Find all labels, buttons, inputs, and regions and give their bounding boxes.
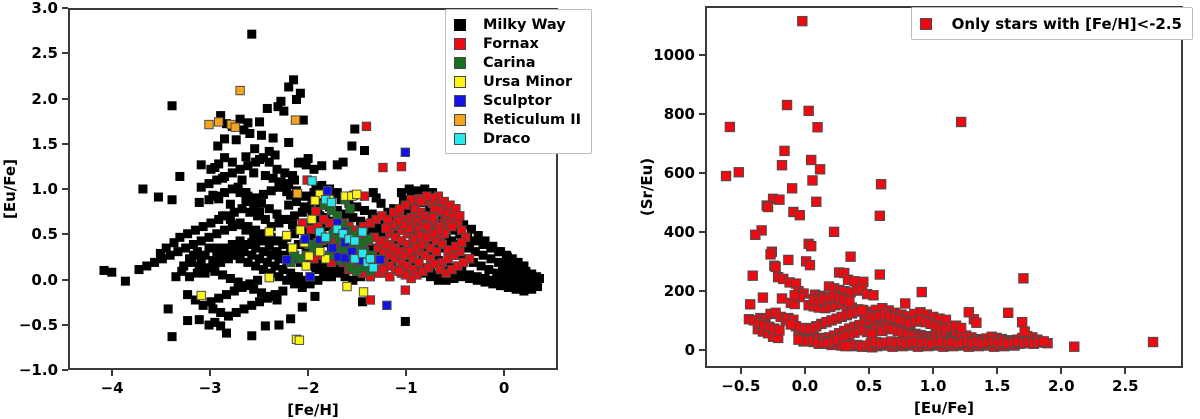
data-point bbox=[259, 153, 267, 161]
data-point bbox=[360, 192, 368, 200]
data-point bbox=[224, 255, 232, 263]
data-point bbox=[271, 290, 279, 298]
scatter-canvas-right bbox=[707, 8, 1181, 366]
data-point bbox=[236, 188, 244, 196]
data-point bbox=[220, 188, 228, 196]
y-tick-mark bbox=[699, 172, 705, 174]
data-point bbox=[234, 221, 242, 229]
y-tick-label: 0.0 bbox=[2, 271, 58, 289]
data-point bbox=[230, 287, 238, 295]
y-tick-mark bbox=[699, 54, 705, 56]
data-point bbox=[244, 240, 252, 248]
legend-item-label: Ursa Minor bbox=[483, 74, 572, 90]
data-point bbox=[1017, 317, 1026, 326]
data-point bbox=[197, 237, 205, 245]
data-point bbox=[232, 136, 240, 144]
data-point bbox=[238, 204, 246, 212]
data-point bbox=[458, 238, 466, 246]
data-point bbox=[238, 283, 246, 291]
data-point bbox=[745, 300, 754, 309]
x-tick-mark bbox=[804, 368, 806, 374]
data-point bbox=[333, 188, 341, 196]
data-point bbox=[197, 183, 205, 191]
data-point bbox=[183, 316, 191, 324]
data-point bbox=[189, 251, 197, 259]
data-point bbox=[734, 168, 743, 177]
x-tick-label: 2.5 bbox=[1112, 377, 1139, 395]
x-tick-label: 0.0 bbox=[792, 377, 819, 395]
data-point bbox=[255, 118, 263, 126]
x-tick-label: 0.5 bbox=[856, 377, 883, 395]
data-point bbox=[298, 276, 306, 284]
data-point bbox=[176, 172, 184, 180]
data-point bbox=[209, 262, 217, 270]
data-point bbox=[251, 158, 259, 166]
x-tick-mark bbox=[405, 370, 407, 376]
data-point bbox=[293, 189, 301, 197]
data-point bbox=[318, 162, 326, 170]
data-point bbox=[311, 196, 319, 204]
data-point bbox=[312, 207, 320, 215]
x-tick-mark bbox=[111, 370, 113, 376]
y-tick-label: 2.0 bbox=[2, 90, 58, 108]
data-point bbox=[215, 160, 223, 168]
data-point bbox=[271, 237, 279, 245]
data-point bbox=[236, 237, 244, 245]
data-point bbox=[875, 211, 884, 220]
data-point bbox=[448, 222, 456, 230]
data-point bbox=[139, 185, 147, 193]
data-point bbox=[164, 305, 172, 313]
data-point bbox=[473, 276, 481, 284]
data-point bbox=[232, 308, 240, 316]
data-point bbox=[401, 317, 409, 325]
data-point bbox=[240, 305, 248, 313]
x-tick-label: 0 bbox=[499, 379, 509, 397]
data-point bbox=[376, 256, 384, 264]
x-tick-mark bbox=[1124, 368, 1126, 374]
data-point bbox=[298, 303, 306, 311]
data-point bbox=[323, 187, 331, 195]
data-point bbox=[168, 332, 176, 340]
data-point bbox=[191, 226, 199, 234]
legend-swatch-icon bbox=[454, 95, 466, 107]
data-point bbox=[279, 240, 287, 248]
data-point bbox=[351, 237, 359, 245]
data-point bbox=[790, 291, 799, 300]
data-point bbox=[328, 244, 336, 252]
data-point bbox=[428, 213, 436, 221]
data-point bbox=[479, 251, 487, 259]
data-point bbox=[308, 215, 316, 223]
data-point bbox=[197, 255, 205, 263]
data-point bbox=[358, 228, 366, 236]
data-point bbox=[846, 252, 855, 261]
data-point bbox=[780, 146, 789, 155]
data-point bbox=[283, 256, 291, 264]
plot-area-right bbox=[705, 6, 1183, 368]
data-point bbox=[284, 138, 292, 146]
data-point bbox=[798, 16, 807, 25]
data-point bbox=[901, 299, 910, 308]
y-tick-mark bbox=[62, 98, 68, 100]
data-point bbox=[228, 158, 236, 166]
legend-item[interactable]: Only stars with [Fe/H]<-2.5 bbox=[920, 13, 1182, 34]
data-point bbox=[383, 301, 391, 309]
data-point bbox=[296, 226, 304, 234]
data-point bbox=[284, 83, 292, 91]
data-point bbox=[271, 151, 279, 159]
data-point bbox=[185, 273, 193, 281]
data-point bbox=[397, 162, 405, 170]
data-point bbox=[199, 222, 207, 230]
data-point bbox=[135, 265, 143, 273]
data-point bbox=[786, 320, 795, 329]
data-point bbox=[520, 262, 528, 270]
legend-item-label: Draco bbox=[483, 131, 531, 147]
y-tick-mark bbox=[62, 7, 68, 9]
data-point bbox=[215, 118, 223, 126]
data-point bbox=[251, 244, 259, 252]
y-tick-mark bbox=[699, 113, 705, 115]
y-tick-label: −1.0 bbox=[2, 361, 58, 379]
data-point bbox=[302, 262, 310, 270]
y-tick-label: 1000 bbox=[639, 46, 695, 64]
data-point bbox=[481, 278, 489, 286]
figure-two-panel-scatter: −1.0−0.50.00.51.01.52.02.53.0−4−3−2−10 M… bbox=[0, 0, 1200, 416]
data-point bbox=[917, 287, 926, 296]
x-tick-mark bbox=[503, 370, 505, 376]
data-point bbox=[304, 154, 312, 162]
data-point bbox=[1039, 337, 1048, 346]
data-point bbox=[458, 273, 466, 281]
data-point bbox=[248, 332, 256, 340]
legend-item-label: Carina bbox=[483, 55, 536, 71]
data-point bbox=[296, 158, 304, 166]
data-point bbox=[232, 251, 240, 259]
legend-item[interactable]: Ursa Minor bbox=[454, 72, 581, 91]
data-point bbox=[220, 172, 228, 180]
data-point bbox=[520, 287, 528, 295]
legend-item[interactable]: Sculptor bbox=[454, 91, 581, 110]
data-point bbox=[379, 163, 387, 171]
data-point bbox=[444, 246, 452, 254]
legend-swatch-icon bbox=[454, 133, 466, 145]
data-point bbox=[265, 228, 273, 236]
data-point bbox=[248, 30, 256, 38]
data-point bbox=[456, 212, 464, 220]
data-point bbox=[351, 255, 359, 263]
data-point bbox=[154, 193, 162, 201]
data-point bbox=[244, 162, 252, 170]
data-point bbox=[216, 258, 224, 266]
data-point bbox=[244, 192, 252, 200]
data-point bbox=[512, 285, 520, 293]
data-point bbox=[250, 145, 258, 153]
data-point bbox=[226, 274, 234, 282]
data-point bbox=[321, 273, 329, 281]
data-point bbox=[301, 235, 309, 243]
legend-swatch-icon bbox=[454, 76, 466, 88]
data-point bbox=[360, 206, 368, 214]
data-point bbox=[465, 274, 473, 282]
data-point bbox=[343, 282, 351, 290]
data-point bbox=[1070, 342, 1079, 351]
data-point bbox=[267, 187, 275, 195]
data-point bbox=[359, 288, 367, 296]
data-point bbox=[218, 271, 226, 279]
y-tick-mark bbox=[62, 233, 68, 235]
data-point bbox=[228, 240, 236, 248]
data-point bbox=[220, 226, 228, 234]
data-point bbox=[172, 273, 180, 281]
data-point bbox=[222, 329, 230, 337]
data-point bbox=[275, 219, 283, 227]
data-point bbox=[231, 123, 239, 131]
x-tick-mark bbox=[868, 368, 870, 374]
y-tick-label: −0.5 bbox=[2, 316, 58, 334]
legend-swatch-icon bbox=[454, 19, 466, 31]
data-point bbox=[782, 100, 791, 109]
data-point bbox=[496, 281, 504, 289]
x-tick-mark bbox=[1060, 368, 1062, 374]
data-point bbox=[174, 247, 182, 255]
data-point bbox=[253, 212, 261, 220]
data-point bbox=[168, 102, 176, 110]
data-point bbox=[286, 315, 294, 323]
data-point bbox=[829, 227, 838, 236]
data-point bbox=[794, 335, 803, 344]
data-point bbox=[242, 226, 250, 234]
data-point bbox=[251, 194, 259, 202]
data-point bbox=[283, 231, 291, 239]
data-point bbox=[748, 271, 757, 280]
data-point bbox=[183, 230, 191, 238]
data-point bbox=[349, 213, 357, 221]
data-point bbox=[265, 273, 273, 281]
data-point bbox=[366, 255, 374, 263]
legend-swatch-icon bbox=[454, 38, 466, 50]
data-point bbox=[964, 308, 973, 317]
data-point bbox=[209, 305, 217, 313]
x-tick-mark bbox=[307, 370, 309, 376]
x-tick-label: −1 bbox=[395, 379, 418, 397]
data-point bbox=[459, 258, 467, 266]
data-point bbox=[213, 230, 221, 238]
y-tick-label: 0.5 bbox=[2, 225, 58, 243]
data-point bbox=[766, 250, 775, 259]
data-point bbox=[413, 187, 421, 195]
data-point bbox=[246, 280, 254, 288]
data-point bbox=[321, 233, 329, 241]
data-point bbox=[220, 244, 228, 252]
data-point bbox=[207, 165, 215, 173]
y-tick-mark bbox=[62, 324, 68, 326]
data-point bbox=[812, 197, 821, 206]
data-point bbox=[972, 318, 981, 327]
data-point bbox=[292, 197, 300, 205]
data-point bbox=[259, 247, 267, 255]
legend-item-label: Only stars with [Fe/H]<-2.5 bbox=[952, 15, 1182, 33]
y-axis-label-left: [Eu/Fe] bbox=[1, 159, 19, 219]
data-point bbox=[228, 185, 236, 193]
legend-item-label: Milky Way bbox=[483, 17, 566, 33]
data-point bbox=[215, 294, 223, 302]
data-point bbox=[1148, 337, 1157, 346]
data-point bbox=[156, 249, 164, 257]
data-point bbox=[784, 255, 793, 264]
y-tick-label: 1.5 bbox=[2, 135, 58, 153]
data-point bbox=[362, 122, 370, 130]
data-point bbox=[311, 292, 319, 300]
data-point bbox=[290, 273, 298, 281]
data-point bbox=[310, 165, 318, 173]
data-point bbox=[275, 255, 283, 263]
data-point bbox=[214, 142, 222, 150]
data-point bbox=[377, 199, 385, 207]
x-axis-label-left: [Fe/H] bbox=[287, 401, 339, 419]
data-point bbox=[100, 266, 108, 274]
data-point bbox=[876, 180, 885, 189]
data-point bbox=[281, 169, 289, 177]
data-point bbox=[197, 161, 205, 169]
data-point bbox=[369, 264, 377, 272]
data-point bbox=[302, 192, 310, 200]
data-point bbox=[216, 308, 224, 316]
data-point bbox=[236, 165, 244, 173]
data-point bbox=[804, 106, 813, 115]
data-point bbox=[267, 251, 275, 259]
data-point bbox=[222, 212, 230, 220]
data-point bbox=[300, 203, 308, 211]
data-point bbox=[197, 291, 205, 299]
data-point bbox=[255, 235, 263, 243]
x-axis-label-right: [Eu/Fe] bbox=[914, 399, 974, 417]
data-point bbox=[261, 171, 269, 179]
y-tick-mark bbox=[62, 188, 68, 190]
data-point bbox=[395, 267, 403, 275]
data-point bbox=[366, 296, 374, 304]
data-point bbox=[308, 177, 316, 185]
y-tick-label: 2.5 bbox=[2, 44, 58, 62]
data-point bbox=[170, 238, 178, 246]
y-tick-label: 0 bbox=[639, 341, 695, 359]
data-point bbox=[213, 176, 221, 184]
y-axis-label-right: (Sr/Eu) bbox=[638, 158, 656, 216]
x-tick-label: −0.5 bbox=[721, 377, 760, 395]
legend-swatch-icon bbox=[920, 18, 932, 30]
data-point bbox=[275, 321, 283, 329]
data-point bbox=[513, 274, 521, 282]
data-point bbox=[494, 247, 502, 255]
data-point bbox=[242, 153, 250, 161]
data-point bbox=[775, 326, 784, 335]
panel-left: −1.0−0.50.00.51.01.52.02.53.0−4−3−2−10 M… bbox=[0, 0, 600, 416]
data-point bbox=[806, 155, 815, 164]
data-point bbox=[777, 294, 786, 303]
legend-item-label: Fornax bbox=[483, 36, 539, 52]
data-point bbox=[230, 208, 238, 216]
data-point bbox=[504, 283, 512, 291]
y-tick-mark bbox=[62, 52, 68, 54]
data-point bbox=[815, 165, 824, 174]
data-point bbox=[845, 297, 854, 306]
data-point bbox=[813, 123, 822, 132]
data-point bbox=[869, 291, 878, 300]
legend-left[interactable]: Milky WayFornaxCarinaUrsa MinorSculptorR… bbox=[445, 9, 592, 154]
data-point bbox=[273, 165, 281, 173]
data-point bbox=[284, 201, 292, 209]
data-point bbox=[226, 200, 234, 208]
y-tick-mark bbox=[62, 279, 68, 281]
data-point bbox=[494, 258, 502, 266]
data-point bbox=[956, 117, 965, 126]
data-point bbox=[1019, 274, 1028, 283]
data-point bbox=[246, 129, 254, 137]
data-point bbox=[316, 247, 324, 255]
data-point bbox=[269, 134, 277, 142]
data-point bbox=[758, 293, 767, 302]
legend-item[interactable]: Milky Way bbox=[454, 15, 581, 34]
data-point bbox=[360, 146, 368, 154]
data-point bbox=[787, 184, 796, 193]
data-point bbox=[290, 212, 298, 220]
data-point bbox=[485, 265, 493, 273]
data-point bbox=[498, 267, 506, 275]
data-point bbox=[956, 323, 965, 332]
legend-item[interactable]: Carina bbox=[454, 53, 581, 72]
data-point bbox=[306, 273, 314, 281]
data-point bbox=[261, 322, 269, 330]
data-point bbox=[358, 249, 366, 257]
legend-item[interactable]: Fornax bbox=[454, 34, 581, 53]
x-tick-mark bbox=[209, 370, 211, 376]
data-point bbox=[487, 255, 495, 263]
x-tick-label: −2 bbox=[297, 379, 320, 397]
data-point bbox=[183, 290, 191, 298]
data-point bbox=[121, 277, 129, 285]
data-point bbox=[201, 265, 209, 273]
data-point bbox=[205, 233, 213, 241]
legend-item[interactable]: Draco bbox=[454, 129, 581, 148]
data-point bbox=[259, 190, 267, 198]
data-point bbox=[479, 240, 487, 248]
data-point bbox=[205, 120, 213, 128]
data-point bbox=[857, 305, 866, 314]
data-point bbox=[405, 185, 413, 193]
y-tick-label: 400 bbox=[639, 223, 695, 241]
data-point bbox=[358, 298, 366, 306]
data-point bbox=[450, 274, 458, 282]
data-point bbox=[108, 268, 116, 276]
data-point bbox=[395, 204, 403, 212]
data-point bbox=[775, 195, 784, 204]
data-point bbox=[246, 208, 254, 216]
data-point bbox=[213, 247, 221, 255]
data-point bbox=[841, 341, 850, 350]
x-tick-mark bbox=[740, 368, 742, 374]
data-point bbox=[283, 215, 291, 223]
data-point bbox=[721, 171, 730, 180]
data-point bbox=[401, 286, 409, 294]
legend-item[interactable]: Reticulum II bbox=[454, 110, 581, 129]
data-point bbox=[279, 287, 287, 295]
data-point bbox=[382, 224, 390, 232]
legend-right[interactable]: Only stars with [Fe/H]<-2.5 bbox=[911, 7, 1193, 40]
data-point bbox=[346, 204, 354, 212]
data-point bbox=[351, 125, 359, 133]
data-point bbox=[295, 336, 303, 344]
